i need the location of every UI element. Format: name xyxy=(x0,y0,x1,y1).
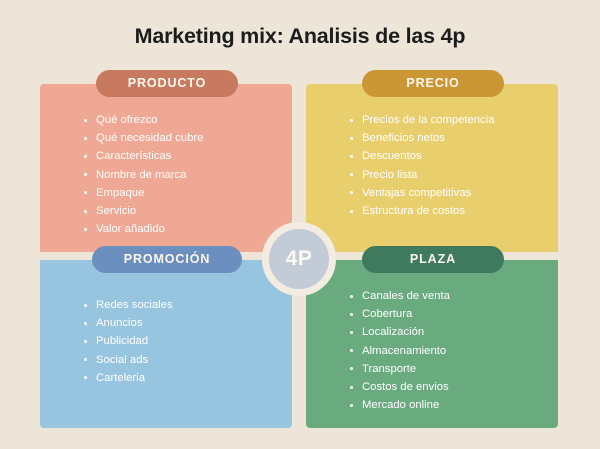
center-badge-label: 4P xyxy=(286,247,313,271)
list-item: Mercado online xyxy=(348,396,450,414)
list-item: Precio lista xyxy=(348,166,495,184)
quadrant-precio: Precios de la competenciaBeneficios neto… xyxy=(306,84,558,252)
list-item: Social ads xyxy=(82,351,173,369)
list-item: Valor añadido xyxy=(82,220,203,238)
quadrant-grid: Qué ofrezcoQué necesidad cubreCaracterís… xyxy=(40,84,558,428)
heading-precio: PRECIO xyxy=(362,70,504,97)
producto-list: Qué ofrezcoQué necesidad cubreCaracterís… xyxy=(82,111,203,238)
list-item: Costos de envios xyxy=(348,378,450,396)
promocion-list: Redes socialesAnunciosPublicidadSocial a… xyxy=(82,296,173,387)
list-item: Canales de venta xyxy=(348,287,450,305)
list-item: Cobertura xyxy=(348,305,450,323)
list-item: Qué ofrezco xyxy=(82,111,203,129)
list-item: Qué necesidad cubre xyxy=(82,129,203,147)
list-item: Beneficios netos xyxy=(348,129,495,147)
heading-producto: PRODUCTO xyxy=(96,70,238,97)
list-item: Empaque xyxy=(82,184,203,202)
precio-list: Precios de la competenciaBeneficios neto… xyxy=(348,111,495,220)
center-badge-4p: 4P xyxy=(262,222,336,296)
list-item: Ventajas competitivas xyxy=(348,184,495,202)
list-item: Carteleria xyxy=(82,369,173,387)
list-item: Transporte xyxy=(348,360,450,378)
list-item: Características xyxy=(82,147,203,165)
list-item: Servicio xyxy=(82,202,203,220)
list-item: Redes sociales xyxy=(82,296,173,314)
heading-plaza: PLAZA xyxy=(362,246,504,273)
quadrant-producto: Qué ofrezcoQué necesidad cubreCaracterís… xyxy=(40,84,292,252)
list-item: Localización xyxy=(348,323,450,341)
list-item: Estructura de costos xyxy=(348,202,495,220)
quadrant-promocion: Redes socialesAnunciosPublicidadSocial a… xyxy=(40,260,292,428)
quadrant-plaza: Canales de ventaCoberturaLocalizaciónAlm… xyxy=(306,260,558,428)
list-item: Almacenamiento xyxy=(348,342,450,360)
page-title: Marketing mix: Analisis de las 4p xyxy=(0,24,600,49)
list-item: Anuncios xyxy=(82,314,173,332)
plaza-list: Canales de ventaCoberturaLocalizaciónAlm… xyxy=(348,287,450,414)
infographic-poster: Marketing mix: Analisis de las 4p Qué of… xyxy=(0,0,600,449)
list-item: Publicidad xyxy=(82,332,173,350)
list-item: Descuentos xyxy=(348,147,495,165)
heading-promocion: PROMOCIÓN xyxy=(92,246,242,273)
list-item: Precios de la competencia xyxy=(348,111,495,129)
list-item: Nombre de marca xyxy=(82,166,203,184)
